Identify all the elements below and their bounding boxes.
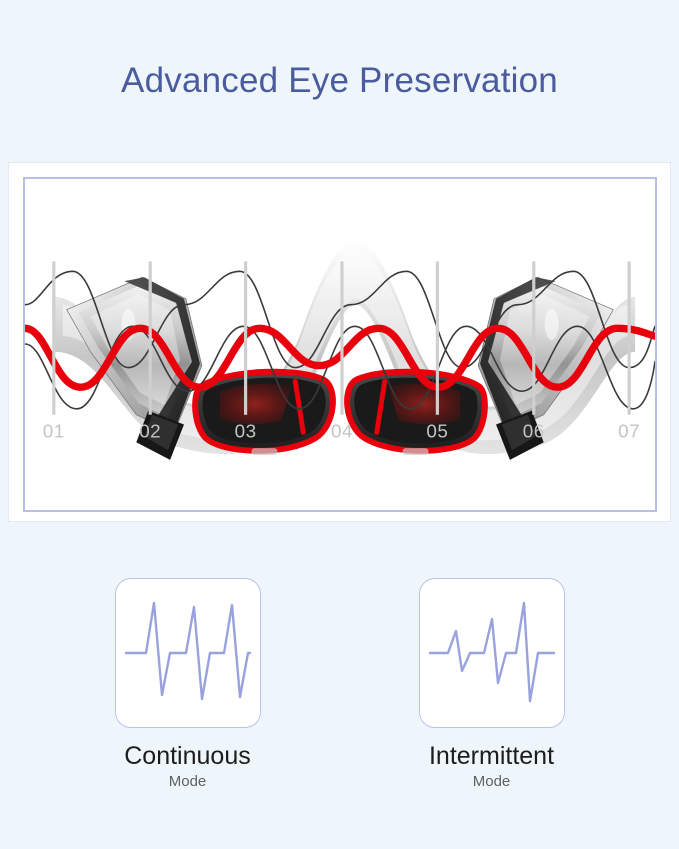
axis-label-04: 04 xyxy=(331,420,353,441)
intermittent-waveform-svg xyxy=(428,591,556,715)
mode-subtitle: Mode xyxy=(473,772,511,792)
mode-title: Intermittent xyxy=(429,741,554,771)
mode-card-continuous[interactable]: Continuous Mode xyxy=(113,578,263,792)
mode-title: Continuous xyxy=(124,741,250,771)
axis-label-01: 01 xyxy=(43,420,65,441)
intermittent-waveform-icon xyxy=(419,578,565,728)
product-diagram: 01 02 03 04 05 06 07 xyxy=(25,179,655,510)
continuous-waveform-icon xyxy=(115,578,261,728)
product-diagram-svg: 01 02 03 04 05 06 07 xyxy=(25,179,655,510)
mode-list: Continuous Mode Intermittent Mode xyxy=(0,578,679,792)
axis-label-06: 06 xyxy=(523,420,545,441)
axis-label-07: 07 xyxy=(618,420,640,441)
axis-label-02: 02 xyxy=(139,420,161,441)
mode-subtitle: Mode xyxy=(169,772,207,792)
hero-panel-inner-frame: 01 02 03 04 05 06 07 xyxy=(23,177,657,512)
axis-label-03: 03 xyxy=(235,420,257,441)
device-right-lens-module xyxy=(347,372,485,451)
page-title: Advanced Eye Preservation xyxy=(0,57,679,105)
mode-card-intermittent[interactable]: Intermittent Mode xyxy=(417,578,567,792)
axis-label-05: 05 xyxy=(426,420,448,441)
hero-panel: 01 02 03 04 05 06 07 xyxy=(8,162,671,522)
continuous-waveform-svg xyxy=(124,591,252,715)
